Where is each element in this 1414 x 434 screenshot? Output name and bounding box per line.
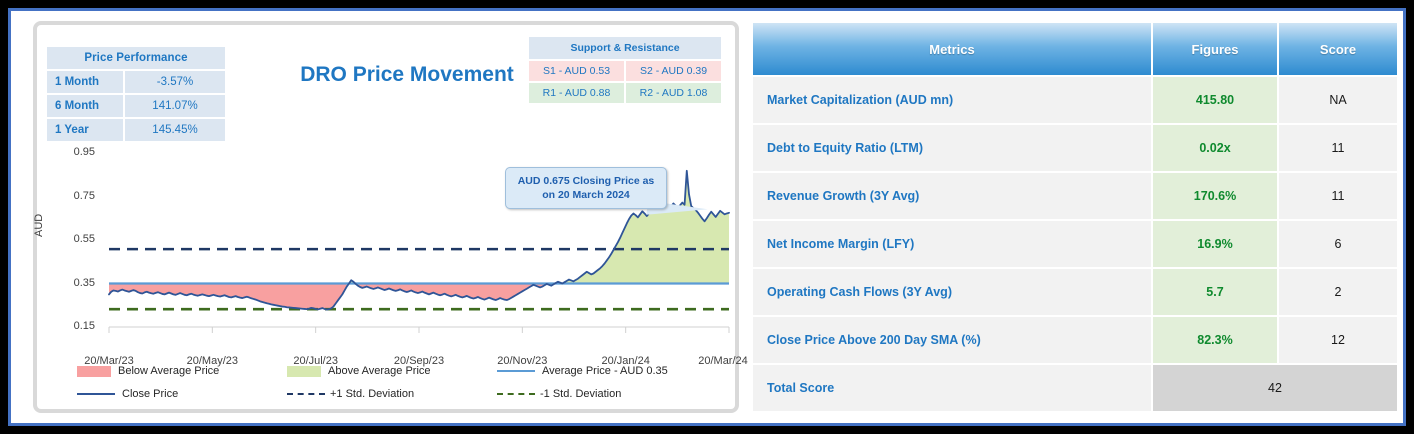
table-row: Net Income Margin (LFY)16.9%6 <box>753 221 1397 267</box>
metric-figure: 415.80 <box>1153 77 1277 123</box>
plus-std-dash-icon <box>287 393 325 395</box>
y-axis-title: AUD <box>33 214 45 237</box>
metric-label: Operating Cash Flows (3Y Avg) <box>753 269 1151 315</box>
table-row: Close Price Above 200 Day SMA (%)82.3%12 <box>753 317 1397 363</box>
column-header-metrics: Metrics <box>753 23 1151 75</box>
pp-label-1m: 1 Month <box>47 71 125 93</box>
above-average-swatch-icon <box>287 366 321 377</box>
metric-figure: 5.7 <box>1153 269 1277 315</box>
legend-label: +1 Std. Deviation <box>330 388 414 400</box>
support-resistance-header: Support & Resistance <box>529 37 721 59</box>
metric-score: 11 <box>1279 125 1397 171</box>
support-s1: S1 - AUD 0.53 <box>529 61 624 81</box>
metrics-table: Metrics Figures Score Market Capitalizat… <box>751 21 1399 413</box>
y-axis-tick-label: 0.55 <box>55 233 95 245</box>
total-score-label: Total Score <box>753 365 1151 411</box>
metric-label: Close Price Above 200 Day SMA (%) <box>753 317 1151 363</box>
total-score-value: 42 <box>1153 365 1397 411</box>
metric-score: 12 <box>1279 317 1397 363</box>
table-row: Debt to Equity Ratio (LTM)0.02x11 <box>753 125 1397 171</box>
close-price-line-icon <box>77 393 115 395</box>
y-axis-tick-label: 0.35 <box>55 277 95 289</box>
metric-label: Revenue Growth (3Y Avg) <box>753 173 1151 219</box>
table-header-row: Metrics Figures Score <box>753 23 1397 75</box>
y-axis-tick-label: 0.75 <box>55 190 95 202</box>
table-row: S1 - AUD 0.53 S2 - AUD 0.39 <box>529 61 721 81</box>
metric-figure: 0.02x <box>1153 125 1277 171</box>
column-header-figures: Figures <box>1153 23 1277 75</box>
pp-label-6m: 6 Month <box>47 95 125 117</box>
metrics-table-body: Market Capitalization (AUD mn)415.80NADe… <box>753 77 1397 411</box>
average-price-line-icon <box>497 370 535 372</box>
legend-item-above-average-price: Above Average Price <box>287 365 497 377</box>
metrics-table-head: Metrics Figures Score <box>753 23 1397 75</box>
metric-label: Net Income Margin (LFY) <box>753 221 1151 267</box>
metric-score: 2 <box>1279 269 1397 315</box>
table-row: R1 - AUD 0.88 R2 - AUD 1.08 <box>529 83 721 103</box>
legend-item-below-average-price: Below Average Price <box>77 365 287 377</box>
legend-label: Below Average Price <box>118 365 219 377</box>
legend-row-2: Close Price +1 Std. Deviation -1 Std. De… <box>77 388 737 400</box>
metrics-panel: Metrics Figures Score Market Capitalizat… <box>751 21 1399 413</box>
price-movement-panel: Price Performance 1 Month -3.57% 6 Month… <box>33 21 739 413</box>
metric-figure: 82.3% <box>1153 317 1277 363</box>
table-row: 6 Month 141.07% <box>47 95 227 117</box>
y-axis-tick-label: 0.15 <box>55 320 95 332</box>
price-performance-table: Price Performance 1 Month -3.57% 6 Month… <box>47 45 227 143</box>
price-performance-header: Price Performance <box>47 47 227 69</box>
table-row: Support & Resistance <box>529 37 721 59</box>
legend-label: Average Price - AUD 0.35 <box>542 365 668 377</box>
legend-label: Above Average Price <box>328 365 431 377</box>
table-row: Revenue Growth (3Y Avg)170.6%11 <box>753 173 1397 219</box>
metric-score: NA <box>1279 77 1397 123</box>
legend-label: -1 Std. Deviation <box>540 388 621 400</box>
legend-item-close-price: Close Price <box>77 388 287 400</box>
resistance-r2: R2 - AUD 1.08 <box>626 83 721 103</box>
column-header-score: Score <box>1279 23 1397 75</box>
legend-row-1: Below Average Price Above Average Price … <box>77 365 737 377</box>
chart-legend: Below Average Price Above Average Price … <box>77 365 737 411</box>
legend-item-average-price: Average Price - AUD 0.35 <box>497 365 668 377</box>
table-row: Price Performance <box>47 47 227 69</box>
below-average-swatch-icon <box>77 366 111 377</box>
total-score-row: Total Score42 <box>753 365 1397 411</box>
legend-item-plus-std-dev: +1 Std. Deviation <box>287 388 497 400</box>
pp-value-1m: -3.57% <box>125 71 227 93</box>
legend-label: Close Price <box>122 388 178 400</box>
table-row: Operating Cash Flows (3Y Avg)5.72 <box>753 269 1397 315</box>
metric-score: 11 <box>1279 173 1397 219</box>
metric-label: Debt to Equity Ratio (LTM) <box>753 125 1151 171</box>
table-row: 1 Year 145.45% <box>47 119 227 141</box>
resistance-r1: R1 - AUD 0.88 <box>529 83 624 103</box>
closing-price-callout: AUD 0.675 Closing Price as on 20 March 2… <box>505 167 667 209</box>
pp-value-6m: 141.07% <box>125 95 227 117</box>
table-row: Market Capitalization (AUD mn)415.80NA <box>753 77 1397 123</box>
metric-score: 6 <box>1279 221 1397 267</box>
metric-figure: 170.6% <box>1153 173 1277 219</box>
support-resistance-table: Support & Resistance S1 - AUD 0.53 S2 - … <box>527 35 723 105</box>
table-row: 1 Month -3.57% <box>47 71 227 93</box>
pp-value-1y: 145.45% <box>125 119 227 141</box>
y-axis-tick-label: 0.95 <box>55 146 95 158</box>
minus-std-dash-icon <box>497 393 535 395</box>
outer-frame: Price Performance 1 Month -3.57% 6 Month… <box>8 8 1406 426</box>
support-s2: S2 - AUD 0.39 <box>626 61 721 81</box>
metric-label: Market Capitalization (AUD mn) <box>753 77 1151 123</box>
pp-label-1y: 1 Year <box>47 119 125 141</box>
metric-figure: 16.9% <box>1153 221 1277 267</box>
legend-item-minus-std-dev: -1 Std. Deviation <box>497 388 621 400</box>
chart-title: DRO Price Movement <box>247 63 567 87</box>
price-chart-plot: AUD 0.150.350.550.750.95 20/Mar/2320/May… <box>37 145 737 360</box>
